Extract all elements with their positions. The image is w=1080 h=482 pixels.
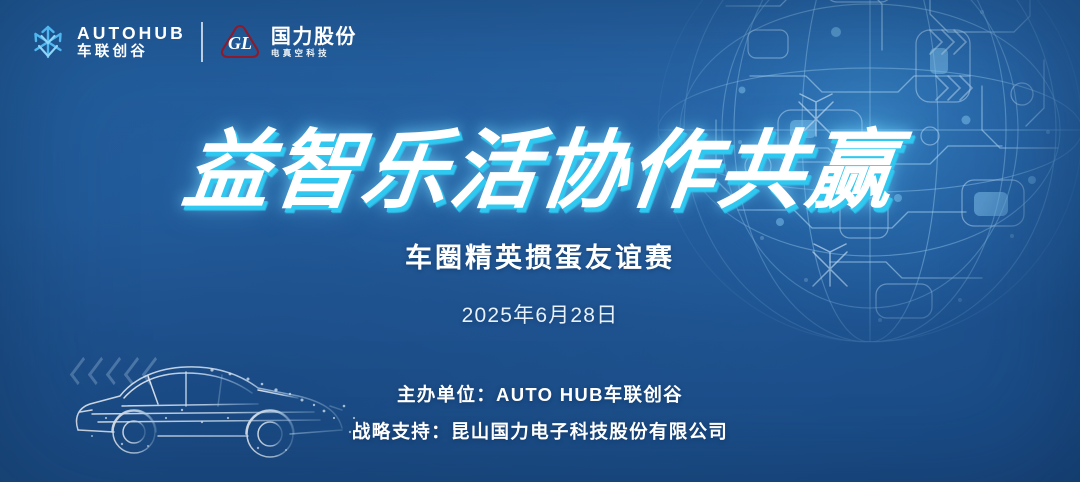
autohub-chinese-name: 车联创谷 [77, 45, 186, 60]
speed-chevrons [74, 360, 159, 382]
logo-bar: AUTOHUB 车联创谷 GL 国力股份 电真空科技 [28, 22, 357, 62]
autohub-logo[interactable]: AUTOHUB 车联创谷 [28, 22, 186, 62]
event-subtitle: 车圈精英掼蛋友谊赛 [0, 236, 1080, 275]
chevron-icon [142, 357, 163, 385]
credits: 主办单位：AUTO HUB车联创谷 战略支持：昆山国力电子科技股份有限公司 [0, 386, 1080, 441]
organizer-line: 主办单位：AUTO HUB车联创谷 [0, 386, 1080, 405]
guoli-chinese-subtitle: 电真空科技 [271, 49, 357, 58]
headline-part-1: 益智乐活 [179, 128, 546, 214]
chevron-icon [124, 357, 145, 385]
autohub-snowflake-mark [28, 22, 68, 62]
headline: 益智乐活协作共赢 [0, 128, 1080, 214]
autohub-wordmark: AUTOHUB [77, 25, 186, 43]
gl-triangle-mark: GL [218, 22, 262, 62]
strategic-support-line: 战略支持：昆山国力电子科技股份有限公司 [0, 423, 1080, 442]
logo-divider [201, 22, 203, 62]
event-poster: AUTOHUB 车联创谷 GL 国力股份 电真空科技 益智乐活协作共赢 车圈精英… [0, 0, 1080, 482]
guoli-logo[interactable]: GL 国力股份 电真空科技 [218, 22, 357, 62]
chevron-icon [106, 357, 127, 385]
headline-part-2: 协作共赢 [535, 128, 902, 214]
chevron-icon [88, 357, 109, 385]
event-date: 2025年6月28日 [0, 299, 1080, 329]
guoli-chinese-name: 国力股份 [271, 27, 357, 47]
svg-text:GL: GL [228, 33, 252, 53]
chevron-icon [70, 357, 91, 385]
